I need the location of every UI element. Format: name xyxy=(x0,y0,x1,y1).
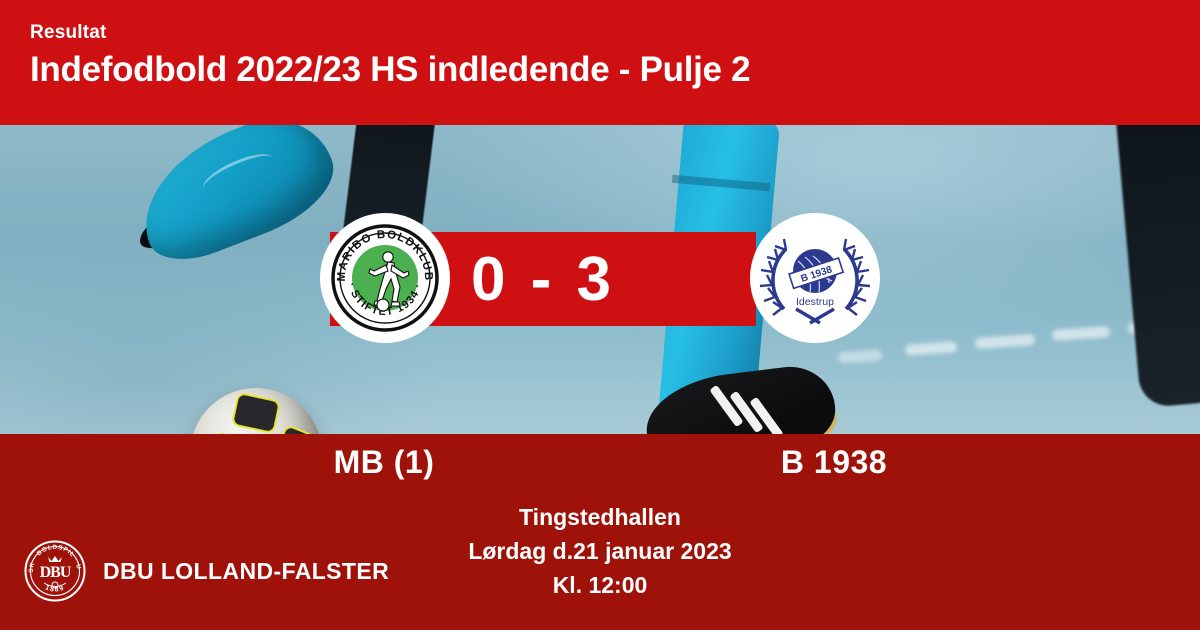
ball-panel xyxy=(272,424,322,434)
b1938-idestrup-crest-icon: B 1938 Idestrup xyxy=(750,213,880,343)
match-details: Tingstedhallen Lørdag d.21 januar 2023 K… xyxy=(300,500,900,602)
home-team-name: MB (1) xyxy=(184,444,584,481)
dbu-monogram: DBU xyxy=(40,564,72,581)
dbu-crest-icon: DANSK · BOLDSPIL · UNION 1889 DBU xyxy=(24,540,86,602)
dbu-association-name: DBU LOLLAND-FALSTER xyxy=(103,558,389,585)
match-date: Lørdag d.21 januar 2023 xyxy=(300,534,900,568)
ball-panel xyxy=(231,392,281,434)
maribo-boldklub-crest-icon: MARIBO BOLDKLUB · STIFTET 1934 · xyxy=(320,213,450,343)
away-team-name: B 1938 xyxy=(634,444,1034,481)
match-time: Kl. 12:00 xyxy=(300,568,900,602)
dbu-branding: DANSK · BOLDSPIL · UNION 1889 DBU DBU LO… xyxy=(24,540,389,602)
page-title: Indefodbold 2022/23 HS indledende - Pulj… xyxy=(30,48,1200,92)
away-team-logo: B 1938 Idestrup xyxy=(750,213,880,343)
header-banner: Resultat Indefodbold 2022/23 HS indleden… xyxy=(0,0,1200,125)
away-logo-club-text: Idestrup xyxy=(796,296,834,308)
result-poster: Resultat Indefodbold 2022/23 HS indleden… xyxy=(0,0,1200,630)
header-kicker: Resultat xyxy=(30,22,1200,44)
venue-name: Tingstedhallen xyxy=(300,500,900,534)
home-team-logo: MARIBO BOLDKLUB · STIFTET 1934 · xyxy=(320,213,450,343)
